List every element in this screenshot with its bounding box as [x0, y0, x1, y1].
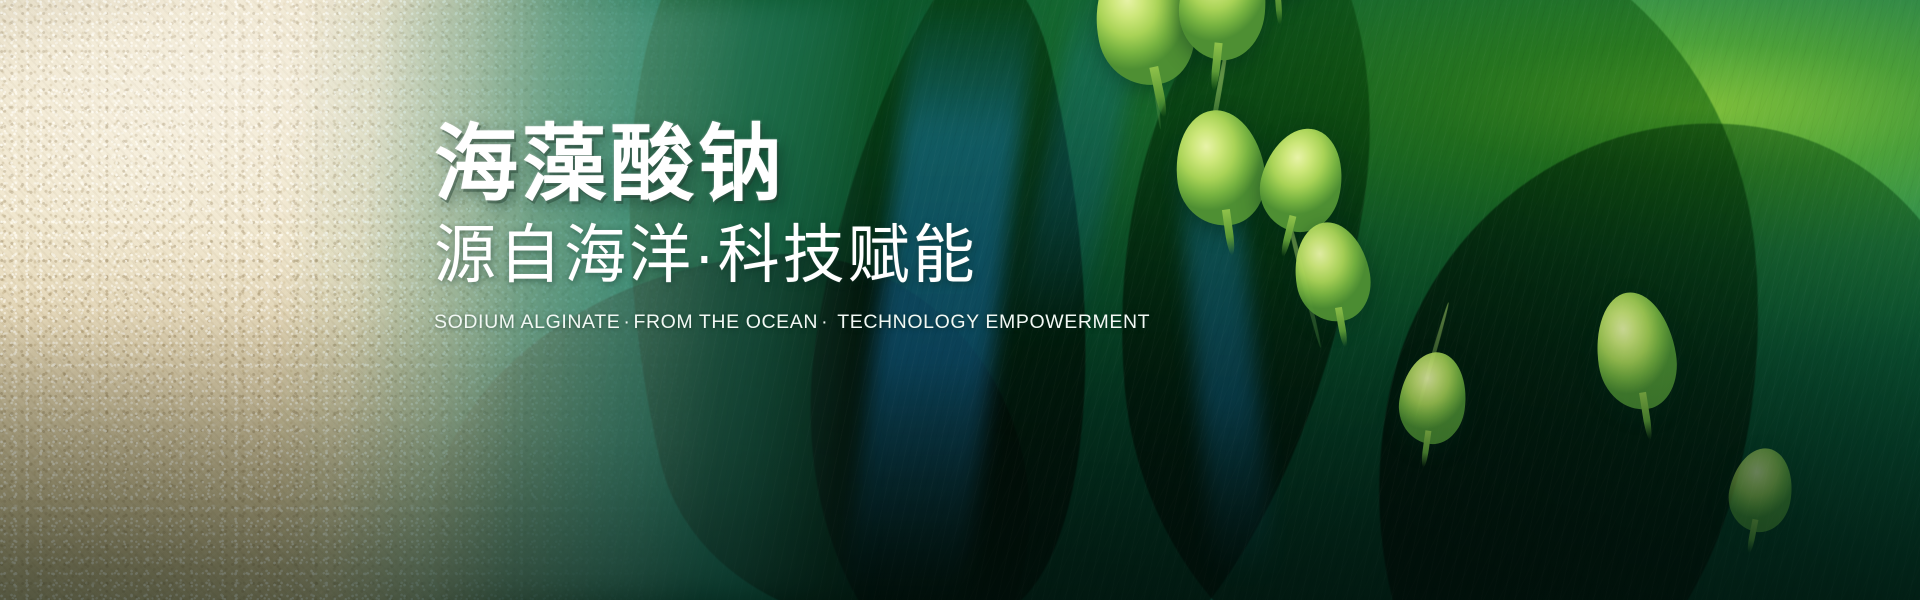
hero-banner: 海藻酸钠 源自海洋·科技赋能 SODIUM ALGINATE·FROM THE …: [0, 0, 1920, 600]
tagline-separator: ·: [818, 311, 831, 333]
tagline-separator: ·: [620, 311, 633, 333]
banner-title: 海藻酸钠: [434, 122, 1214, 208]
tagline-part-1: SODIUM ALGINATE: [434, 311, 620, 333]
tagline-part-3: TECHNOLOGY EMPOWERMENT: [837, 311, 1150, 333]
banner-copy: 海藻酸钠 源自海洋·科技赋能 SODIUM ALGINATE·FROM THE …: [434, 122, 1214, 334]
banner-tagline-en: SODIUM ALGINATE·FROM THE OCEAN· TECHNOLO…: [434, 311, 1214, 334]
tagline-part-2: FROM THE OCEAN: [633, 311, 818, 333]
banner-subtitle: 源自海洋·科技赋能: [434, 222, 1214, 292]
